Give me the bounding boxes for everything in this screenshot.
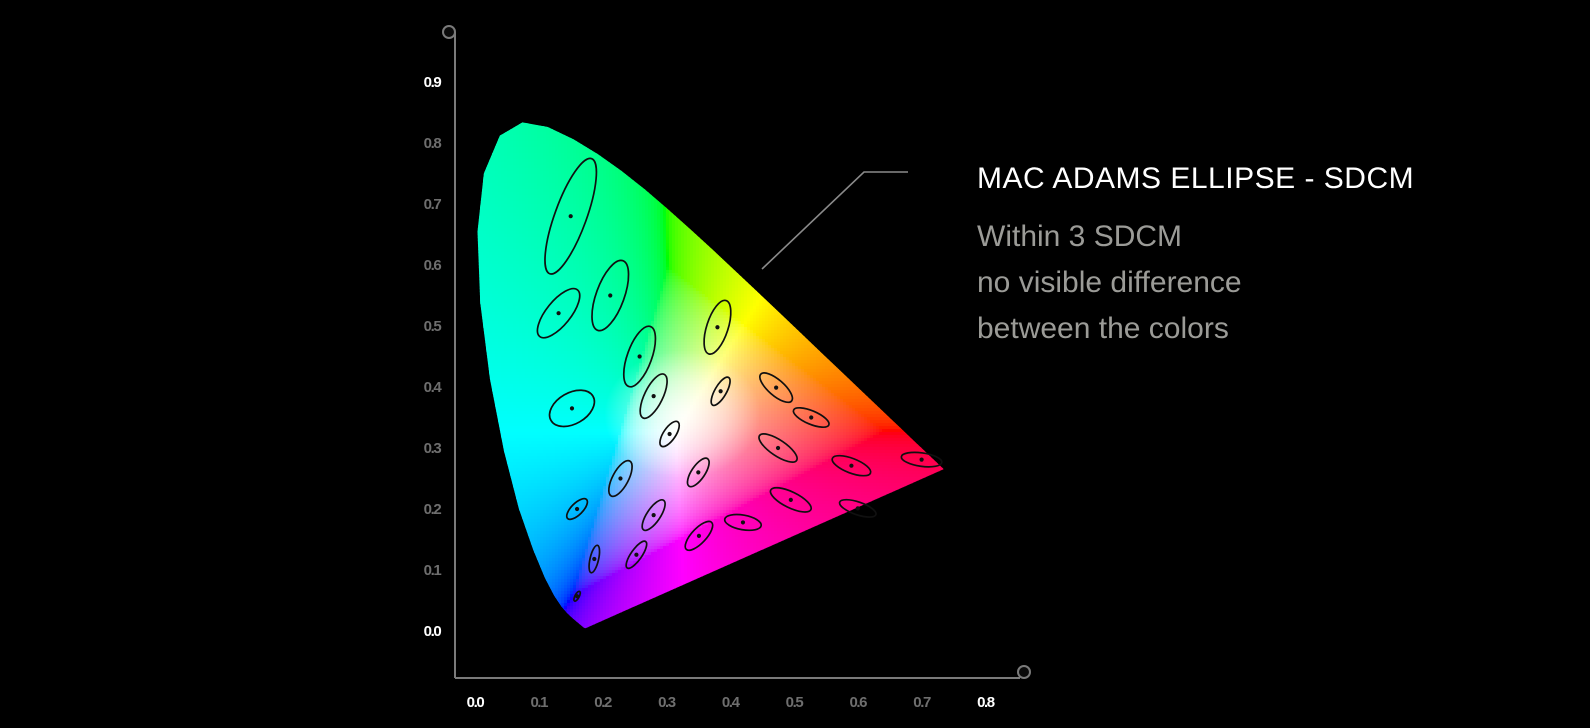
x-axis-tick-label: 0.0 [467, 694, 485, 711]
macadam-ellipse-center-dot [608, 293, 612, 297]
annotation-title: MAC ADAMS ELLIPSE - SDCM [977, 162, 1414, 195]
macadam-ellipse-center-dot [592, 557, 596, 561]
macadam-ellipse-center-dot [575, 594, 579, 598]
macadam-ellipse-center-dot [741, 520, 745, 524]
macadam-ellipse-center-dot [697, 534, 701, 538]
macadam-ellipse-center-dot [715, 325, 719, 329]
annotation-body-line-3: between the colors [977, 312, 1229, 345]
macadam-ellipse-center-dot [569, 214, 573, 218]
cie-gamut [471, 78, 964, 643]
macadam-ellipse-center-dot [856, 506, 860, 510]
macadam-ellipse-center-dot [556, 311, 560, 315]
y-axis-tick-label: 0.7 [424, 196, 442, 213]
macadam-ellipse-center-dot [789, 498, 793, 502]
macadam-ellipse-center-dot [618, 476, 622, 480]
chromaticity-diagram-stage: 0.00.10.20.30.40.50.60.70.8 0.00.10.20.3… [0, 0, 1590, 728]
y-axis-tick-label: 0.4 [424, 379, 443, 396]
y-axis-tick-label: 0.2 [424, 501, 442, 518]
macadam-ellipse-center-dot [667, 432, 671, 436]
diagram-svg: 0.00.10.20.30.40.50.60.70.8 0.00.10.20.3… [0, 0, 1590, 728]
macadam-ellipse-center-dot [652, 513, 656, 517]
x-axis-tick-label: 0.6 [849, 694, 867, 711]
x-axis-tick-label: 0.2 [594, 694, 612, 711]
macadam-ellipse-center-dot [575, 507, 579, 511]
macadam-ellipse-center-dot [634, 553, 638, 557]
macadam-ellipse-center-dot [920, 457, 924, 461]
x-axis-tick-label: 0.1 [530, 694, 548, 711]
callout-leader-line [762, 172, 908, 269]
y-axis-tick-label: 0.3 [424, 440, 442, 457]
annotation-body-line-2: no visible difference [977, 266, 1242, 299]
macadam-ellipse-center-dot [719, 389, 723, 393]
x-axis-endpoint-icon [1018, 666, 1030, 678]
y-axis-tick-label: 0.9 [424, 74, 442, 91]
macadam-ellipse-center-dot [638, 354, 642, 358]
x-axis-tick-label: 0.7 [913, 694, 931, 711]
y-axis-tick-label: 0.5 [424, 318, 442, 335]
x-axis-tick-label: 0.3 [658, 694, 676, 711]
y-axis-tick-label: 0.6 [424, 257, 442, 274]
macadam-ellipse-center-dot [809, 415, 813, 419]
y-axis-tick-label: 0.0 [424, 623, 442, 640]
annotation-body-line-1: Within 3 SDCM [977, 220, 1182, 253]
macadam-ellipse-center-dot [696, 470, 700, 474]
macadam-ellipse-center-dot [849, 464, 853, 468]
macadam-ellipse-center-dot [652, 394, 656, 398]
x-axis-tick-label: 0.4 [722, 694, 741, 711]
y-axis-endpoint-icon [443, 26, 455, 38]
macadam-ellipse-center-dot [774, 386, 778, 390]
y-axis-tick-label: 0.1 [424, 562, 442, 579]
y-axis-tick-label: 0.8 [424, 135, 442, 152]
x-axis-tick-label: 0.5 [786, 694, 804, 711]
x-axis-tick-labels: 0.00.10.20.30.40.50.60.70.8 [467, 694, 995, 711]
macadam-ellipse-center-dot [776, 446, 780, 450]
y-axis-tick-labels: 0.00.10.20.30.40.50.60.70.80.9 [424, 74, 443, 640]
x-axis-tick-label: 0.8 [977, 694, 995, 711]
macadam-ellipse-center-dot [570, 406, 574, 410]
